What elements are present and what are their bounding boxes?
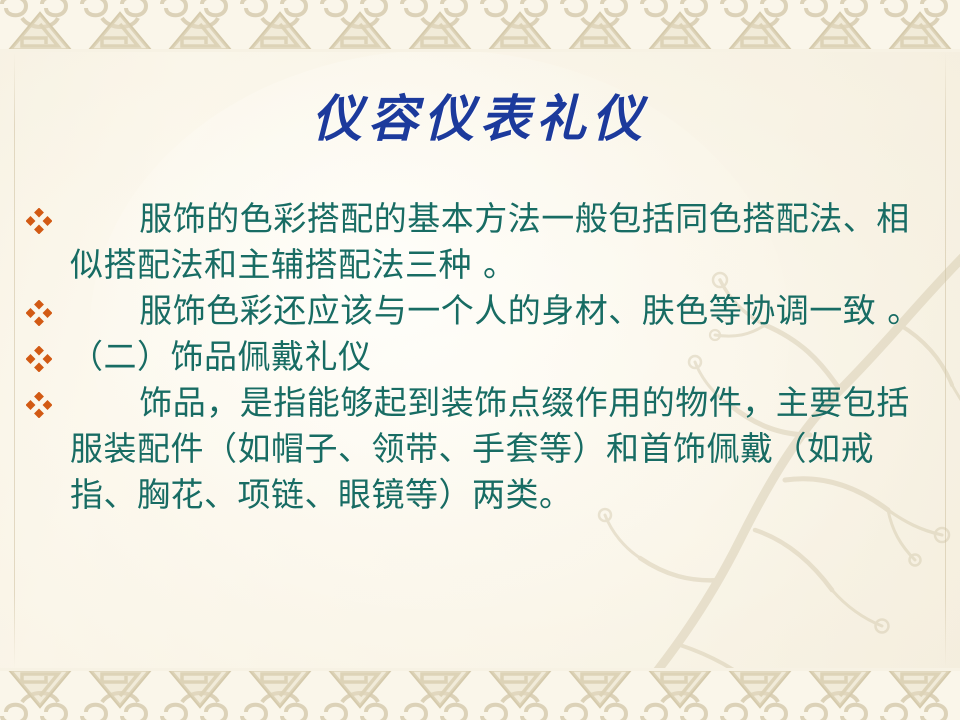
- list-item-text: （二）饰品佩戴礼仪: [70, 334, 926, 380]
- list-item[interactable]: 服饰的色彩搭配的基本方法一般包括同色搭配法、相似搭配法和主辅搭配法三种 。: [26, 196, 926, 288]
- top-ornamental-border: [0, 0, 960, 52]
- presentation-slide: 仪容仪表礼仪 服饰的色彩搭配的基本方法一般包括同色搭配法、相似搭配法和主辅搭配法…: [0, 0, 960, 720]
- diamond-cluster-bullet-icon: [26, 334, 70, 372]
- slide-title: 仪容仪表礼仪: [0, 93, 960, 146]
- list-item-text: 服饰色彩还应该与一个人的身材、肤色等协调一致 。: [70, 288, 926, 334]
- list-item-text: 饰品，是指能够起到装饰点缀作用的物件，主要包括服装配件（如帽子、领带、手套等）和…: [70, 380, 926, 518]
- list-item[interactable]: 饰品，是指能够起到装饰点缀作用的物件，主要包括服装配件（如帽子、领带、手套等）和…: [26, 380, 926, 518]
- diamond-cluster-bullet-icon: [26, 288, 70, 326]
- list-item[interactable]: （二）饰品佩戴礼仪: [26, 334, 926, 380]
- list-item-text: 服饰的色彩搭配的基本方法一般包括同色搭配法、相似搭配法和主辅搭配法三种 。: [70, 196, 926, 288]
- slide-body: 服饰的色彩搭配的基本方法一般包括同色搭配法、相似搭配法和主辅搭配法三种 。 服饰…: [26, 196, 926, 518]
- diamond-cluster-bullet-icon: [26, 380, 70, 418]
- list-item[interactable]: 服饰色彩还应该与一个人的身材、肤色等协调一致 。: [26, 288, 926, 334]
- bottom-ornamental-border: [0, 668, 960, 720]
- diamond-cluster-bullet-icon: [26, 196, 70, 234]
